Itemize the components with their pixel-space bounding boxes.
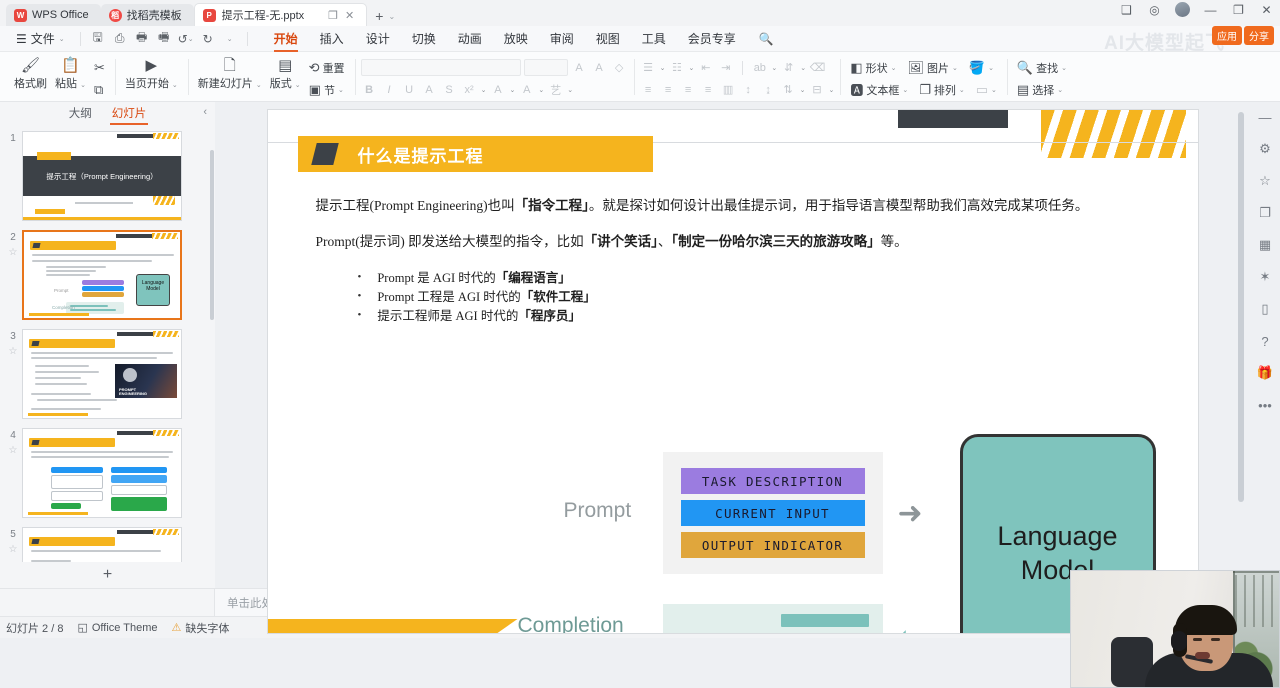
align-left-icon[interactable]: ≡: [640, 81, 657, 98]
thumbnail-number: 2: [10, 232, 16, 243]
list-item[interactable]: 5 ☆: [0, 524, 215, 562]
bullet-dot-icon: •: [358, 307, 362, 326]
ribbon-group-clipboard: 🖌 格式刷 📋 粘贴 ⌄ ✂ ⧉: [4, 54, 115, 101]
title-bar: W WPS Office 稻 找稻壳模板 P 提示工程-无.pptx ❐ ✕ +…: [0, 0, 1280, 26]
slide-title-banner[interactable]: 什么是提示工程: [298, 136, 653, 172]
reset-icon: ⟲: [309, 60, 320, 76]
reset-label: 重置: [323, 60, 345, 76]
section-button[interactable]: ▣ 节 ⌄: [305, 81, 348, 99]
arrow-left-icon: ⬅: [898, 620, 923, 633]
tab-review[interactable]: 审阅: [539, 27, 585, 51]
favorite-star-icon[interactable]: ☆: [9, 346, 18, 357]
tab-slides[interactable]: 幻灯片: [110, 103, 149, 124]
select-label: 选择: [1032, 82, 1054, 98]
prompt-diagram[interactable]: Prompt Completion TASK DESCRIPTION CURRE…: [398, 334, 1168, 613]
list-item: •提示工程师是 AGI 时代的「程序员」: [358, 307, 1158, 326]
paste-icon: 📋: [61, 57, 80, 74]
bar-current-input: CURRENT INPUT: [681, 500, 865, 526]
page-title: 什么是提示工程: [358, 142, 484, 167]
snapshot-icon[interactable]: ❑: [1119, 2, 1134, 17]
shape-icon: ◧: [850, 60, 862, 76]
shape-fill-button[interactable]: 🪣⌄: [965, 59, 998, 77]
copy-button[interactable]: ⧉: [90, 81, 107, 99]
ribbon-group-paragraph: ☰⌄ ☷⌄ ⇤ ⇥ ab⌄ ⇵⌄ ⌫ ≡ ≡ ≡ ≡ ▥ ↕ ↨: [634, 54, 841, 101]
pinyin-guide-icon[interactable]: ab: [751, 59, 768, 76]
divider: [247, 32, 248, 46]
drawing-stack: ◧ 形状⌄ 🖼 图片⌄ 🪣⌄ 🅰 文本框⌄: [846, 56, 1001, 100]
tab-transition[interactable]: 切换: [401, 27, 447, 51]
menu-bar: ☰ 文件 ⌄ 🖫 ⎙ 🖶 🖷 ↺⌄ ↻ ⌄ 开始 插入 设计 切换 动画 放映 …: [0, 26, 1280, 52]
line-spacing-icon[interactable]: ↕: [740, 81, 757, 98]
warning-icon: ⚠: [172, 621, 182, 634]
chart-icon[interactable]: ▦: [1255, 236, 1275, 254]
search-icon: 🔍: [1017, 60, 1033, 76]
ribbon-tabs: 开始 插入 设计 切换 动画 放映 审阅 视图 工具 会员专享: [263, 27, 747, 51]
tab-animation[interactable]: 动画: [447, 27, 493, 51]
layout-label: 版式 ⌄: [270, 75, 301, 91]
font-size-input[interactable]: [524, 59, 568, 76]
favorite-star-icon[interactable]: ☆: [9, 544, 18, 555]
slide-surface[interactable]: 什么是提示工程 提示工程(Prompt Engineering)也叫「指令工程」…: [268, 110, 1198, 633]
effects-icon[interactable]: ✶: [1255, 268, 1275, 286]
list-item[interactable]: 2 ☆ Languag: [0, 227, 215, 326]
find-label: 查找: [1036, 60, 1058, 76]
format-painter-icon: 🖌: [21, 57, 40, 74]
fill-icon: 🪣: [969, 60, 985, 76]
tab-find-template-label: 找稻壳模板: [127, 7, 182, 23]
slide-panel-tabs: 大纲 幻灯片 ‹: [0, 102, 215, 124]
picture-button[interactable]: 🖼 图片⌄: [903, 59, 961, 77]
title-diamond-icon: [311, 143, 338, 165]
tab-slideshow[interactable]: 放映: [493, 27, 539, 51]
highlight-color-button[interactable]: A: [518, 81, 535, 98]
close-button[interactable]: ✕: [1259, 2, 1274, 17]
tab-wps-office-label: WPS Office: [32, 9, 89, 21]
arrange-icon: ❐: [919, 82, 931, 98]
chevron-down-icon[interactable]: ⌄: [567, 86, 573, 94]
badge-app[interactable]: 应用: [1212, 26, 1242, 45]
slide-thumbnail-panel: 大纲 幻灯片 ‹ 1 提示工程（Prompt Engineering）: [0, 102, 215, 588]
thumbnail-number: 5: [10, 529, 16, 540]
undo-icon[interactable]: ↺⌄: [176, 30, 196, 48]
bullet-text-1: Prompt 是 AGI 时代的「编程语言」: [377, 269, 570, 288]
tab-wps-office[interactable]: W WPS Office: [6, 4, 101, 26]
editing-stack: 🔍 查找⌄ ▤ 选择⌄: [1013, 56, 1071, 100]
align-text-icon[interactable]: ⊟: [808, 81, 825, 98]
paste-button[interactable]: 📋 粘贴 ⌄: [51, 56, 90, 92]
align-right-icon[interactable]: ≡: [680, 81, 697, 98]
superscript-button[interactable]: x²: [461, 81, 478, 98]
tab-close-icon[interactable]: ✕: [345, 9, 354, 22]
favorites-star-icon[interactable]: ☆: [1255, 172, 1275, 190]
slide-top-dark-bar: [898, 110, 1008, 128]
ribbon-group-start: ▶ 当页开始 ⌄: [115, 54, 188, 101]
tab-insert[interactable]: 插入: [309, 27, 355, 51]
clear-format-icon[interactable]: ◇: [611, 59, 628, 76]
bullet-dot-icon: •: [358, 269, 362, 288]
chevron-down-icon[interactable]: ⌄: [481, 86, 487, 94]
reset-button[interactable]: ⟲ 重置: [305, 59, 349, 77]
tab-tools[interactable]: 工具: [631, 27, 677, 51]
grow-font-icon[interactable]: A: [571, 59, 588, 76]
chevron-down-icon[interactable]: ⌄: [509, 86, 515, 94]
thumbnail-4[interactable]: [22, 428, 182, 518]
window-controls: ❑ ◎ — ❐ ✕: [1119, 2, 1274, 17]
tab-document-label: 提示工程-无.pptx: [222, 7, 305, 23]
gift-icon[interactable]: 🎁: [1255, 364, 1275, 382]
ribbon-group-drawing: ◧ 形状⌄ 🖼 图片⌄ 🪣⌄ 🅰 文本框⌄: [840, 54, 1007, 101]
new-slide-label: 新建幻灯片 ⌄: [198, 75, 262, 91]
ribbon-group-font: A A ◇ B I U A S x² ⌄ A ⌄ A ⌄ 艺 ⌄: [355, 54, 634, 101]
badge-share[interactable]: 分享: [1244, 26, 1274, 45]
hamburger-icon: ☰: [16, 32, 27, 46]
font-color-button[interactable]: A: [489, 81, 506, 98]
slide-body[interactable]: 提示工程(Prompt Engineering)也叫「指令工程」。就是探讨如何设…: [316, 196, 1158, 327]
completion-box: [663, 604, 883, 633]
outline-icon: ▭: [976, 82, 988, 98]
paste-label: 粘贴 ⌄: [55, 75, 86, 91]
ribbon-toolbar: 🖌 格式刷 📋 粘贴 ⌄ ✂ ⧉ ▶ 当页开始 ⌄ 🗋 新建幻灯片 ⌄: [0, 52, 1280, 102]
print-preview-icon[interactable]: ⎙: [110, 30, 130, 48]
thumbnail-scrollbar[interactable]: [210, 150, 214, 320]
find-button[interactable]: 🔍 查找⌄: [1013, 59, 1071, 77]
chevron-down-icon: ⌄: [388, 12, 395, 21]
bold-button[interactable]: B: [361, 81, 378, 98]
font-stack: A A ◇ B I U A S x² ⌄ A ⌄ A ⌄ 艺 ⌄: [361, 56, 628, 100]
scissors-icon: ✂: [94, 60, 105, 76]
ribbon-group-slides: 🗋 新建幻灯片 ⌄ ▤ 版式 ⌄ ⟲ 重置 ▣ 节 ⌄: [188, 54, 355, 101]
select-icon: ▤: [1017, 82, 1029, 98]
bullets-icon[interactable]: ☰: [640, 59, 657, 76]
main-area: 大纲 幻灯片 ‹ 1 提示工程（Prompt Engineering）: [0, 102, 1280, 588]
chevron-left-icon[interactable]: ‹: [203, 106, 207, 118]
picture-label: 图片: [927, 60, 949, 76]
webcam-overlay: [1070, 570, 1280, 688]
bullet-text-3: 提示工程师是 AGI 时代的「程序员」: [377, 307, 580, 326]
tab-find-template[interactable]: 稻 找稻壳模板: [101, 4, 194, 26]
thumbnail-1[interactable]: 提示工程（Prompt Engineering）: [22, 131, 182, 221]
sort-icon[interactable]: ⇵: [780, 59, 797, 76]
slide-top-stripes: [1041, 110, 1186, 158]
bar-output-indicator: OUTPUT INDICATOR: [681, 532, 865, 558]
tab-start[interactable]: 开始: [263, 27, 309, 51]
bullet-dot-icon: •: [358, 288, 362, 307]
tab-design[interactable]: 设计: [355, 27, 401, 51]
current-page-start-button[interactable]: ▶ 当页开始 ⌄: [121, 56, 182, 92]
italic-button[interactable]: I: [381, 81, 398, 98]
thumbnail-number: 3: [10, 331, 16, 342]
font-family-input[interactable]: [361, 59, 521, 76]
add-slide-button[interactable]: +: [0, 562, 215, 588]
chevron-down-icon: ⌄: [59, 35, 65, 43]
thumbnail-3[interactable]: PROMPTENGINEERING: [22, 329, 182, 419]
powerpoint-icon: P: [203, 9, 216, 22]
divider: [80, 32, 81, 46]
align-center-icon[interactable]: ≡: [660, 81, 677, 98]
thumbnail-5[interactable]: [22, 527, 182, 562]
justify-icon[interactable]: ≡: [700, 81, 717, 98]
list-item[interactable]: 4 ☆: [0, 425, 215, 524]
text-direction-icon[interactable]: ⇅: [780, 81, 797, 98]
tab-document[interactable]: P 提示工程-无.pptx ❐ ✕: [194, 3, 368, 26]
slide-paragraph-1: 提示工程(Prompt Engineering)也叫「指令工程」。就是探讨如何设…: [316, 196, 1158, 216]
layout-button[interactable]: ▤ 版式 ⌄: [266, 56, 305, 92]
shape-button[interactable]: ◧ 形状⌄: [846, 59, 900, 77]
plus-icon: +: [375, 8, 383, 24]
section-icon: ▣: [309, 82, 321, 98]
arrange-button[interactable]: ❐ 排列⌄: [915, 81, 969, 99]
underline-button[interactable]: U: [401, 81, 418, 98]
textbox-icon: 🅰: [850, 80, 863, 99]
minimize-button[interactable]: —: [1203, 2, 1218, 17]
template-icon: 稻: [109, 9, 122, 22]
textbox-label: 文本框: [866, 82, 899, 98]
thumbnail-number: 4: [10, 430, 16, 441]
settings-sliders-icon[interactable]: ⚙: [1255, 140, 1275, 158]
list-item[interactable]: 3 ☆: [0, 326, 215, 425]
new-tab-button[interactable]: + ⌄: [367, 8, 403, 26]
favorite-star-icon[interactable]: ☆: [9, 445, 18, 456]
more-dots-icon[interactable]: •••: [1255, 396, 1275, 414]
picture-icon: 🖼: [907, 60, 924, 76]
thumbnail-2[interactable]: LanguageModel Prompt Completion: [22, 230, 182, 320]
diagram-completion-label: Completion: [518, 614, 624, 633]
book-icon[interactable]: ▯: [1255, 300, 1275, 318]
columns-icon[interactable]: ▥: [720, 81, 737, 98]
list-item: •Prompt 是 AGI 时代的「编程语言」: [358, 269, 1158, 288]
layout-panel-icon[interactable]: ❐: [1255, 204, 1275, 222]
ribbon-group-editing: 🔍 查找⌄ ▤ 选择⌄: [1007, 54, 1077, 101]
current-page-start-label: 当页开始 ⌄: [125, 75, 178, 91]
cut-button[interactable]: ✂: [90, 59, 109, 77]
text-shadow-button[interactable]: A: [421, 81, 438, 98]
layout-icon: ▤: [278, 57, 292, 74]
play-circle-icon: ▶: [146, 57, 158, 74]
theme-button[interactable]: ◱ Office Theme: [77, 621, 157, 634]
strikethrough-button[interactable]: S: [441, 81, 458, 98]
list-item[interactable]: 1 提示工程（Prompt Engineering）: [0, 128, 215, 227]
search-icon[interactable]: 🔍: [759, 32, 774, 46]
new-slide-icon: 🗋: [224, 57, 236, 74]
thumbnail-1-title: 提示工程（Prompt Engineering）: [23, 156, 181, 196]
print-direct-icon[interactable]: 🖷: [154, 30, 174, 48]
maximize-button[interactable]: ❐: [1231, 2, 1246, 17]
clear-formatting-icon[interactable]: ⌫: [809, 59, 826, 76]
wps-logo-icon: W: [14, 9, 27, 22]
numbering-icon[interactable]: ☷: [668, 59, 685, 76]
avatar[interactable]: [1175, 2, 1190, 17]
presenter-figure: [1163, 613, 1259, 687]
bullet-text-2: Prompt 工程是 AGI 时代的「软件工程」: [377, 288, 595, 307]
decrease-indent-icon[interactable]: ⇤: [697, 59, 714, 76]
notes-left-spacer: [0, 589, 215, 616]
print-icon[interactable]: 🖶: [132, 30, 152, 48]
copy-icon: ⧉: [94, 82, 103, 98]
diagram-prompt-label: Prompt: [564, 499, 632, 523]
cut-copy-stack: ✂ ⧉: [90, 56, 109, 100]
redo-icon[interactable]: ↻: [198, 30, 218, 48]
canvas-scrollbar[interactable]: [1238, 112, 1244, 502]
save-icon[interactable]: 🖫: [88, 30, 108, 48]
slide-canvas[interactable]: 什么是提示工程 提示工程(Prompt Engineering)也叫「指令工程」…: [215, 102, 1250, 588]
thumbnail-number: 1: [10, 133, 16, 144]
section-label: 节: [324, 82, 335, 98]
list-item: •Prompt 工程是 AGI 时代的「软件工程」: [358, 288, 1158, 307]
select-button[interactable]: ▤ 选择⌄: [1013, 81, 1067, 99]
wps-office-window: W WPS Office 稻 找稻壳模板 P 提示工程-无.pptx ❐ ✕ +…: [0, 0, 1280, 688]
help-circle-icon[interactable]: ◎: [1147, 2, 1162, 17]
file-menu-button[interactable]: ☰ 文件 ⌄: [8, 28, 73, 49]
shape-label: 形状: [866, 60, 888, 76]
font-warning[interactable]: ⚠ 缺失字体: [172, 620, 230, 636]
slide-bottom-accent: [268, 619, 518, 633]
watermark-text: AI大模型起飞: [1104, 28, 1225, 55]
thumbnail-list[interactable]: 1 提示工程（Prompt Engineering）: [0, 124, 215, 562]
customize-quick-access-icon[interactable]: ⌄: [220, 30, 240, 48]
shrink-font-icon[interactable]: A: [591, 59, 608, 76]
bar-task-description: TASK DESCRIPTION: [681, 468, 865, 494]
chevron-down-icon[interactable]: ⌄: [538, 86, 544, 94]
arrange-label: 排列: [934, 82, 956, 98]
reset-section-stack: ⟲ 重置 ▣ 节 ⌄: [305, 56, 349, 100]
increase-indent-icon[interactable]: ⇥: [717, 59, 734, 76]
paragraph-spacing-icon[interactable]: ↨: [760, 81, 777, 98]
new-slide-button[interactable]: 🗋 新建幻灯片 ⌄: [194, 56, 266, 92]
arrow-right-icon: ➜: [898, 496, 923, 531]
textbox-button[interactable]: 🅰 文本框⌄: [846, 79, 912, 100]
language-model-line1: Language: [997, 521, 1117, 551]
favorite-star-icon[interactable]: ☆: [9, 247, 18, 258]
shape-outline-button[interactable]: ▭⌄: [972, 81, 1001, 99]
format-painter-label: 格式刷: [14, 75, 47, 91]
paragraph-stack: ☰⌄ ☷⌄ ⇤ ⇥ ab⌄ ⇵⌄ ⌫ ≡ ≡ ≡ ≡ ▥ ↕ ↨: [640, 56, 835, 100]
file-menu-label: 文件: [31, 30, 55, 47]
slide-counter: 幻灯片 2 / 8: [6, 620, 63, 636]
tab-view[interactable]: 视图: [585, 27, 631, 51]
tab-window-icon[interactable]: ❐: [328, 9, 338, 22]
font-warning-label: 缺失字体: [185, 620, 229, 636]
help-circle-icon[interactable]: ?: [1255, 332, 1275, 350]
theme-icon: ◱: [77, 621, 87, 634]
right-tool-rail: — ⚙ ☆ ❐ ▦ ✶ ▯ ? 🎁 •••: [1250, 102, 1280, 588]
prompt-parts-box: TASK DESCRIPTION CURRENT INPUT OUTPUT IN…: [663, 452, 883, 574]
tab-outline[interactable]: 大纲: [67, 103, 94, 124]
text-effect-button[interactable]: 艺: [547, 81, 564, 98]
top-right-badges: 应用 分享: [1212, 26, 1274, 45]
format-painter-button[interactable]: 🖌 格式刷: [10, 56, 51, 92]
slide-bullet-list: •Prompt 是 AGI 时代的「编程语言」 •Prompt 工程是 AGI …: [358, 269, 1158, 327]
theme-label: Office Theme: [92, 622, 158, 634]
tab-member[interactable]: 会员专享: [677, 27, 747, 51]
collapse-ribbon-icon[interactable]: —: [1255, 108, 1275, 126]
slide-paragraph-2: Prompt(提示词) 即发送给大模型的指令，比如「讲个笑话」、「制定一份哈尔滨…: [316, 232, 1158, 252]
